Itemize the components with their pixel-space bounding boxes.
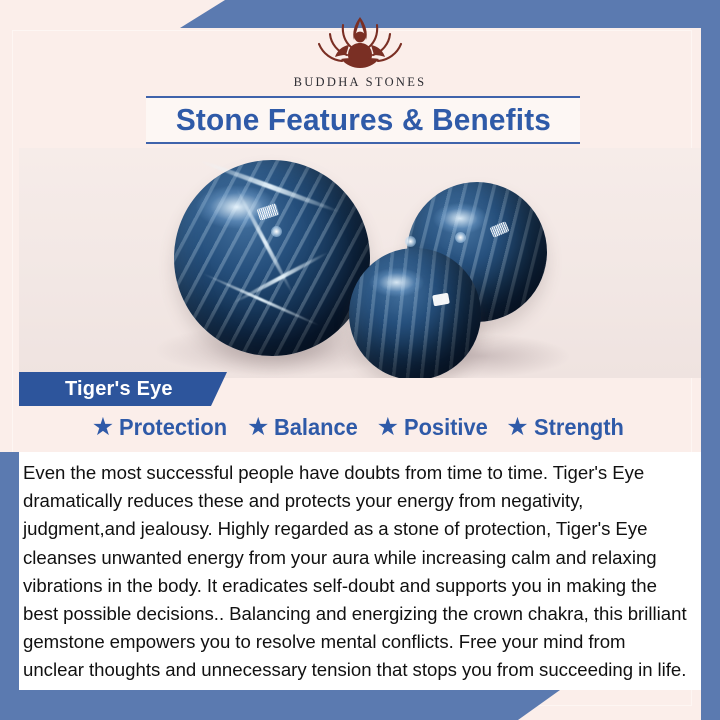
stone-name: Tiger's Eye (19, 378, 173, 401)
specular-highlight (271, 226, 282, 237)
lotus-meditation-icon (297, 12, 423, 74)
star-icon: ★ (92, 415, 114, 440)
stone-name-tag: Tiger's Eye (19, 372, 227, 406)
specular-highlight (455, 232, 466, 243)
decorative-band-bottom-left (0, 690, 560, 720)
specular-highlight (405, 236, 416, 247)
brand-logo: BUDDHA STONES (0, 12, 720, 90)
decorative-band-right (701, 0, 720, 720)
star-icon: ★ (506, 415, 528, 440)
benefit-label: Strength (534, 414, 624, 441)
benefit-item-positive: ★ Positive (377, 414, 493, 441)
benefit-label: Protection (119, 414, 227, 441)
star-icon: ★ (377, 415, 399, 440)
benefit-label: Balance (274, 414, 358, 441)
benefit-item-protection: ★ Protection (92, 414, 233, 441)
benefit-item-strength: ★ Strength (506, 414, 628, 441)
description-panel: Even the most successful people have dou… (19, 452, 701, 690)
decorative-band-left (0, 452, 19, 720)
benefit-item-balance: ★ Balance (247, 414, 363, 441)
brand-name: BUDDHA STONES (0, 75, 720, 90)
benefits-list: ★ Protection ★ Balance ★ Positive ★ Stre… (19, 414, 701, 441)
description-text: Even the most successful people have dou… (23, 459, 687, 685)
tigers-eye-sphere-front (349, 248, 481, 378)
stone-info-card: BUDDHA STONES Stone Features & Benefits … (0, 0, 720, 720)
headline-banner: Stone Features & Benefits (146, 96, 580, 144)
star-icon: ★ (247, 415, 269, 440)
stone-photo (19, 148, 701, 378)
page-title: Stone Features & Benefits (175, 102, 550, 138)
benefit-label: Positive (404, 414, 488, 441)
